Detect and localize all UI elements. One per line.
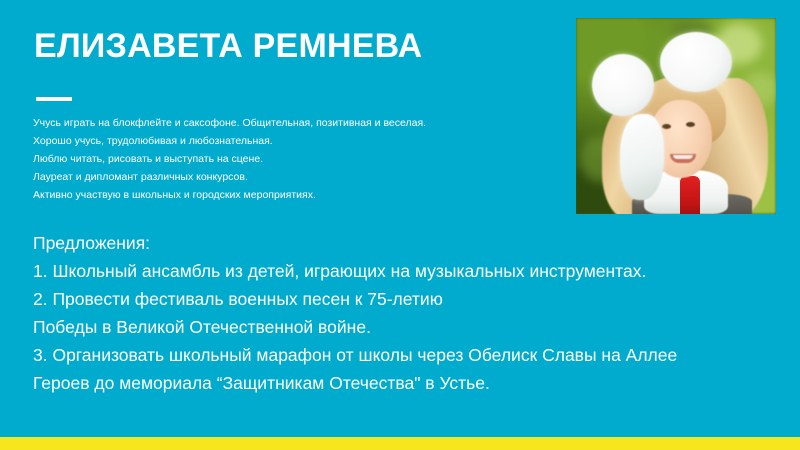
title-divider [36,97,72,101]
proposal-item-line: 2. Провести фестиваль военных песен к 75… [33,285,773,313]
intro-paragraph: Учусь играть на блокфлейте и саксофоне. … [33,114,553,204]
red-tie [680,176,700,214]
intro-line: Учусь играть на блокфлейте и саксофоне. … [33,114,553,132]
teeth [673,155,693,159]
proposals-block: Предложения: 1. Школьный ансамбль из дет… [33,229,773,397]
intro-line: Активно участвую в школьных и городских … [33,186,553,204]
intro-line: Люблю читать, рисовать и выступать на сц… [33,150,553,168]
intro-line: Лауреат и дипломант различных конкурсов. [33,168,553,186]
proposal-item-line: 1. Школьный ансамбль из детей, играющих … [33,257,773,285]
intro-line: Хорошо учусь, трудолюбивая и любознатель… [33,132,553,150]
bottom-accent-band [0,437,800,450]
slide-canvas: ЕЛИЗАВЕТА РЕМНЕВА Учусь играть на блокфл… [0,0,800,450]
proposal-item-line: 3. Организовать школьный марафон от школ… [33,341,773,369]
proposal-item-line: Победы в Великой Отечественной войне. [33,313,773,341]
proposal-item-line: Героев до мемориала “Защитникам Отечеств… [33,369,773,397]
portrait-photo [576,18,776,214]
hair-bow-right [660,32,732,92]
hair-bow-left [592,54,654,116]
bow-ribbon-tail [620,114,664,200]
eye-left [662,124,671,129]
proposals-heading: Предложения: [33,229,773,257]
page-title: ЕЛИЗАВЕТА РЕМНЕВА [34,26,422,66]
eye-right [686,122,695,127]
